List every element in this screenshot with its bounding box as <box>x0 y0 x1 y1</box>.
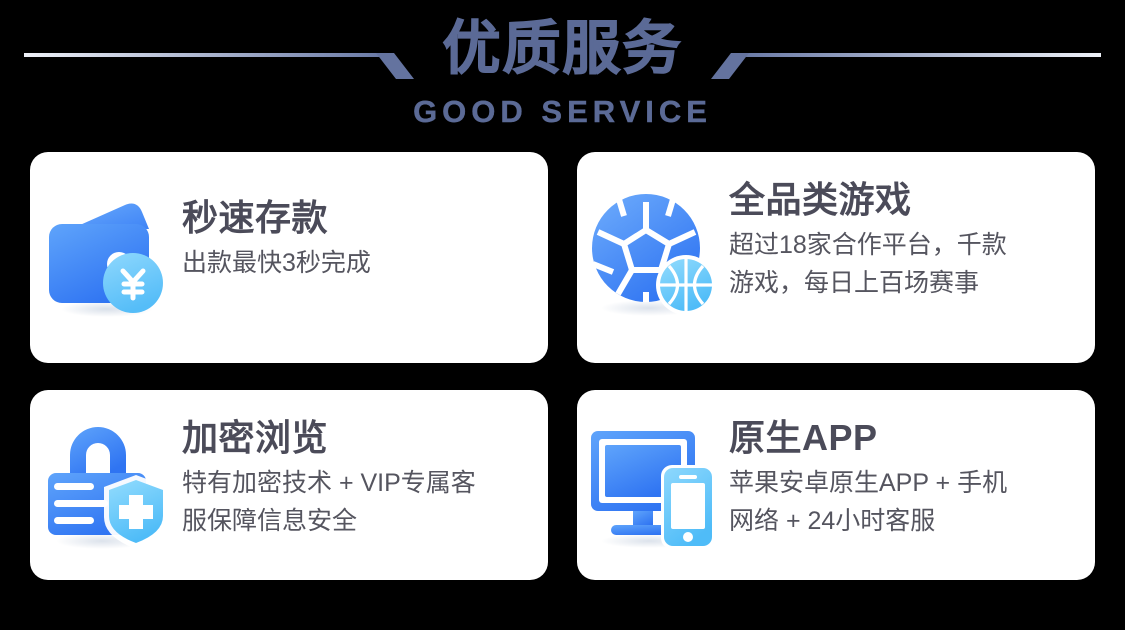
page-header: 优质服务 GOOD SERVICE <box>0 0 1125 146</box>
wallet-yen-icon <box>30 182 182 330</box>
feature-card-text: 全品类游戏 超过18家合作平台，千款 游戏，每日上百场赛事 <box>729 178 1095 302</box>
feature-card-text: 秒速存款 出款最快3秒完成 <box>182 196 548 282</box>
soccer-basketball-icon <box>577 180 729 328</box>
card-subtitle-line: 游戏，每日上百场赛事 <box>729 264 1081 302</box>
feature-card-all-games[interactable]: 全品类游戏 超过18家合作平台，千款 游戏，每日上百场赛事 <box>577 152 1095 363</box>
card-subtitle-line: 超过18家合作平台，千款 <box>729 226 1081 264</box>
card-subtitle-line: 出款最快3秒完成 <box>182 244 534 282</box>
card-title: 全品类游戏 <box>729 178 1081 222</box>
card-subtitle-line: 网络 + 24小时客服 <box>729 502 1081 540</box>
page-subtitle: GOOD SERVICE <box>0 92 1125 132</box>
card-title: 加密浏览 <box>182 416 534 460</box>
card-title: 秒速存款 <box>182 196 534 240</box>
header-titles: 优质服务 GOOD SERVICE <box>0 0 1125 132</box>
card-subtitle-line: 苹果安卓原生APP + 手机 <box>729 464 1081 502</box>
feature-card-native-app[interactable]: 原生APP 苹果安卓原生APP + 手机 网络 + 24小时客服 <box>577 390 1095 580</box>
feature-card-text: 原生APP 苹果安卓原生APP + 手机 网络 + 24小时客服 <box>729 416 1095 540</box>
feature-card-text: 加密浏览 特有加密技术 + VIP专属客 服保障信息安全 <box>182 416 548 540</box>
feature-card-instant-deposit[interactable]: 秒速存款 出款最快3秒完成 <box>30 152 548 363</box>
monitor-phone-icon <box>577 412 729 558</box>
card-subtitle-line: 特有加密技术 + VIP专属客 <box>182 464 534 502</box>
card-title: 原生APP <box>729 416 1081 460</box>
lock-shield-icon <box>30 412 182 558</box>
feature-card-grid: 秒速存款 出款最快3秒完成 <box>30 152 1095 580</box>
page-title: 优质服务 <box>0 0 1125 92</box>
card-subtitle-line: 服保障信息安全 <box>182 502 534 540</box>
feature-card-encrypted-browsing[interactable]: 加密浏览 特有加密技术 + VIP专属客 服保障信息安全 <box>30 390 548 580</box>
